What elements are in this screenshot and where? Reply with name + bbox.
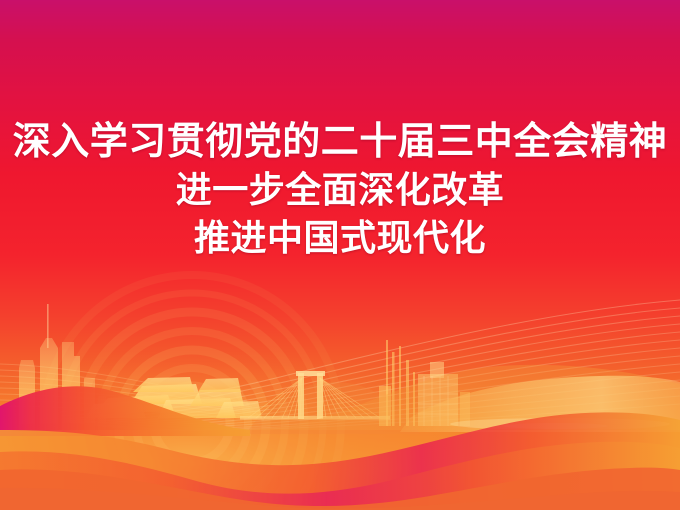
tower-cap [430, 362, 444, 378]
lower-wash [0, 430, 680, 510]
bridge-pylon-right [317, 373, 323, 419]
poster-canvas: 深入学习贯彻党的二十届三中全会精神 进一步全面深化改革 推进中国式现代化 [0, 0, 680, 510]
bridge-crossbeam [296, 371, 325, 376]
poster-artwork [0, 0, 680, 510]
bridge-pylon-left [298, 373, 304, 419]
